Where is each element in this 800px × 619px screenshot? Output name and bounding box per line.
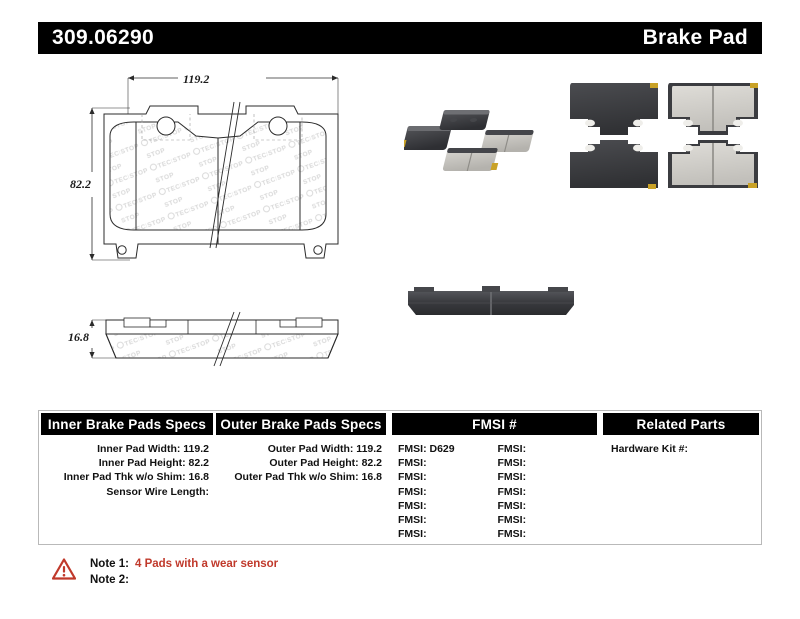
product-spec-sheet: 309.06290 Brake Pad 119.2 82.2 16.8 STOP… [0, 0, 800, 619]
notes-section: Note 1: 4 Pads with a wear sensor Note 2… [52, 556, 278, 588]
hardware-kit-number: Hardware Kit #: [611, 442, 759, 456]
outer-specs-column: Outer Pad Width: 119.2 Outer Pad Height:… [216, 437, 386, 541]
inner-specs-column: Inner Pad Width: 119.2 Inner Pad Height:… [41, 437, 213, 541]
table-body: Inner Pad Width: 119.2 Inner Pad Height:… [39, 437, 761, 541]
fmsi-entry: FMSI: [498, 513, 598, 527]
fmsi-entry: FMSI: [398, 470, 498, 484]
part-number: 309.06290 [52, 26, 154, 50]
fmsi-subcolumn-right: FMSI: FMSI: FMSI: FMSI: FMSI: FMSI: FMSI… [498, 442, 598, 541]
fmsi-entry: FMSI: [498, 499, 598, 513]
fmsi-column: FMSI: D629 FMSI: FMSI: FMSI: FMSI: FMSI:… [392, 437, 597, 541]
fmsi-entry: FMSI: [398, 499, 498, 513]
fmsi-entry: FMSI: D629 [398, 442, 498, 456]
column-header-outer-specs: Outer Brake Pads Specs [216, 413, 386, 435]
table-header-row: Inner Brake Pads Specs Outer Brake Pads … [39, 411, 761, 437]
outer-pad-thickness: Outer Pad Thk w/o Shim: 16.8 [216, 470, 382, 484]
fmsi-entry: FMSI: [398, 527, 498, 541]
column-header-fmsi: FMSI # [392, 413, 597, 435]
note-2: Note 2: [90, 572, 278, 588]
inner-pad-height: Inner Pad Height: 82.2 [41, 456, 209, 470]
sensor-wire-length: Sensor Wire Length: [41, 485, 209, 499]
note-2-label: Note 2: [90, 572, 129, 588]
fmsi-entry: FMSI: [498, 527, 598, 541]
inner-pad-width: Inner Pad Width: 119.2 [41, 442, 209, 456]
warning-triangle-icon [52, 558, 76, 580]
fmsi-subcolumn-left: FMSI: D629 FMSI: FMSI: FMSI: FMSI: FMSI:… [398, 442, 498, 541]
outer-pad-height: Outer Pad Height: 82.2 [216, 456, 382, 470]
header-bar: 309.06290 Brake Pad [38, 22, 762, 54]
pad-outline-drawing: STOP TECH STOP [38, 62, 400, 382]
fmsi-entry: FMSI: [398, 513, 498, 527]
note-1: Note 1: 4 Pads with a wear sensor [90, 556, 278, 572]
notes-list: Note 1: 4 Pads with a wear sensor Note 2… [90, 556, 278, 588]
column-header-related-parts: Related Parts [603, 413, 759, 435]
technical-drawing: 119.2 82.2 16.8 STOP TECH STOP [38, 62, 400, 382]
fmsi-entry: FMSI: [498, 485, 598, 499]
fmsi-entry: FMSI: [498, 442, 598, 456]
inner-pad-thickness: Inner Pad Thk w/o Shim: 16.8 [41, 470, 209, 484]
fmsi-entry: FMSI: [498, 470, 598, 484]
related-parts-column: Hardware Kit #: [603, 437, 759, 541]
fmsi-entry: FMSI: [398, 485, 498, 499]
fmsi-entry: FMSI: [498, 456, 598, 470]
note-1-value: 4 Pads with a wear sensor [135, 556, 278, 572]
column-header-inner-specs: Inner Brake Pads Specs [41, 413, 213, 435]
photo-pad-edge [398, 281, 584, 323]
fmsi-entry: FMSI: [398, 456, 498, 470]
photo-pads-angled [404, 96, 540, 180]
specifications-table: Inner Brake Pads Specs Outer Brake Pads … [38, 410, 762, 545]
outer-pad-width: Outer Pad Width: 119.2 [216, 442, 382, 456]
note-1-label: Note 1: [90, 556, 129, 572]
photo-pads-grid [568, 80, 764, 196]
product-type-label: Brake Pad [643, 26, 748, 50]
